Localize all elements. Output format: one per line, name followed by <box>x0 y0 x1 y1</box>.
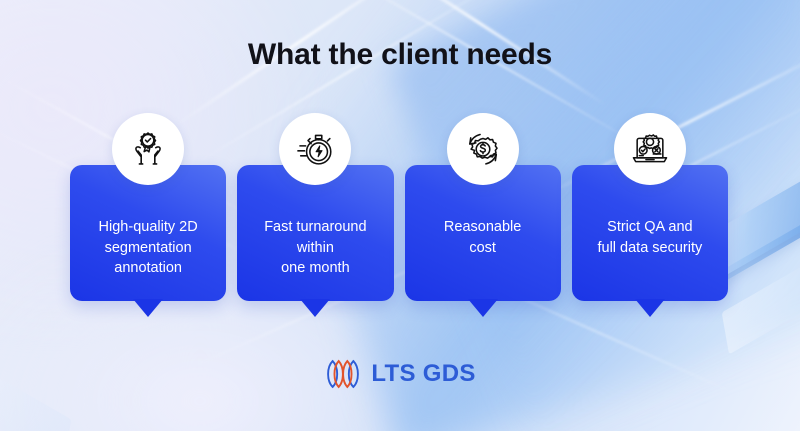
brand-logo: LTS GDS <box>0 359 800 389</box>
card-tail <box>300 299 330 317</box>
card-label: Reasonable cost <box>411 217 555 258</box>
laptop-gear-check-cross-icon <box>614 113 686 185</box>
hands-holding-quality-badge-icon <box>112 113 184 185</box>
card-label: Fast turnaround within one month <box>243 217 387 279</box>
card-tail <box>468 299 498 317</box>
slide-canvas: What the client needs High-quality 2D se… <box>0 0 800 431</box>
card-strict-qa-security[interactable]: Strict QA and full data security <box>572 165 728 301</box>
card-fast-turnaround[interactable]: Fast turnaround within one month <box>237 165 393 301</box>
card-label: High-quality 2D segmentation annotation <box>76 217 220 279</box>
page-title: What the client needs <box>0 38 800 72</box>
card-high-quality-annotation[interactable]: High-quality 2D segmentation annotation <box>70 165 226 301</box>
card-tail <box>133 299 163 317</box>
card-tail <box>635 299 665 317</box>
glass-slab-far <box>722 228 800 355</box>
card-reasonable-cost[interactable]: Reasonable cost <box>405 165 561 301</box>
cards-row: High-quality 2D segmentation annotation … <box>70 165 728 301</box>
lts-gds-petals-mark <box>324 359 362 389</box>
gear-dollar-cycle-icon <box>447 113 519 185</box>
card-label: Strict QA and full data security <box>578 217 722 258</box>
logo-wordmark: LTS GDS <box>371 360 475 388</box>
stopwatch-lightning-icon <box>279 113 351 185</box>
